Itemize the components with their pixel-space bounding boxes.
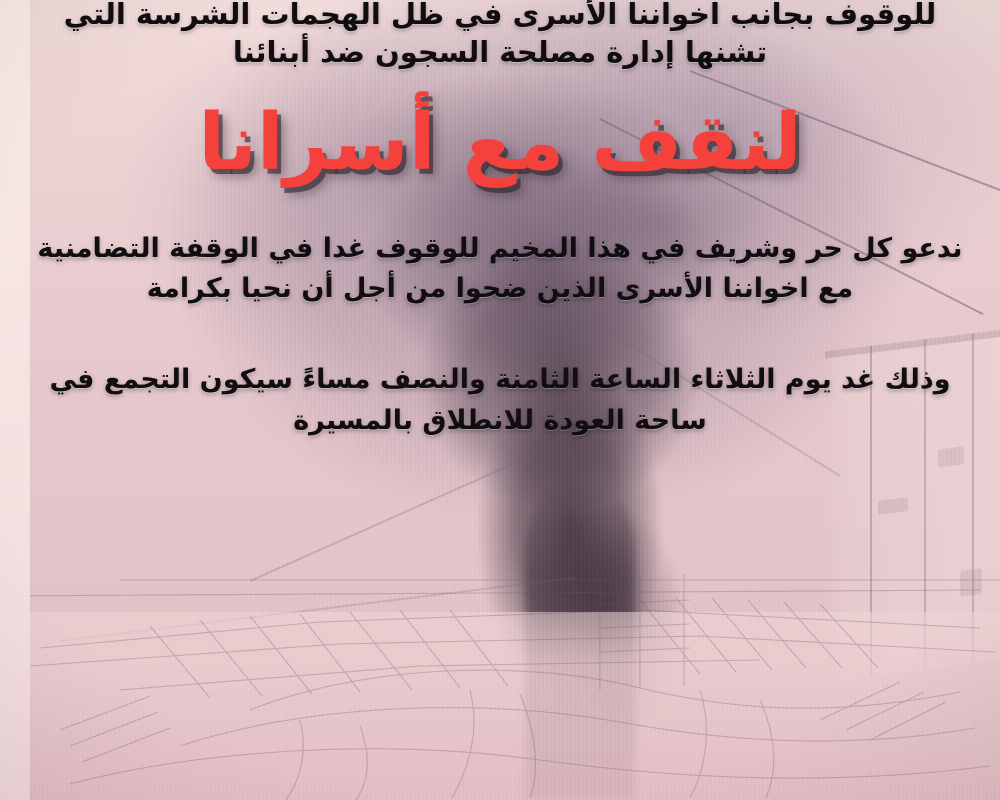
poster-text-content: للوقوف بجانب اخواننا الأسرى في ظل الهجما… bbox=[0, 0, 1000, 800]
body-event-details: وذلك غد يوم الثلاثاء الساعة الثامنة والن… bbox=[34, 360, 966, 441]
headline-top: للوقوف بجانب اخواننا الأسرى في ظل الهجما… bbox=[34, 0, 966, 71]
poster-image: للوقوف بجانب اخواننا الأسرى في ظل الهجما… bbox=[0, 0, 1000, 800]
headline-red-slogan: لنقف مع أسرانا bbox=[34, 103, 966, 185]
body-invitation: ندعو كل حر وشريف في هذا المخيم للوقوف غد… bbox=[34, 229, 966, 308]
